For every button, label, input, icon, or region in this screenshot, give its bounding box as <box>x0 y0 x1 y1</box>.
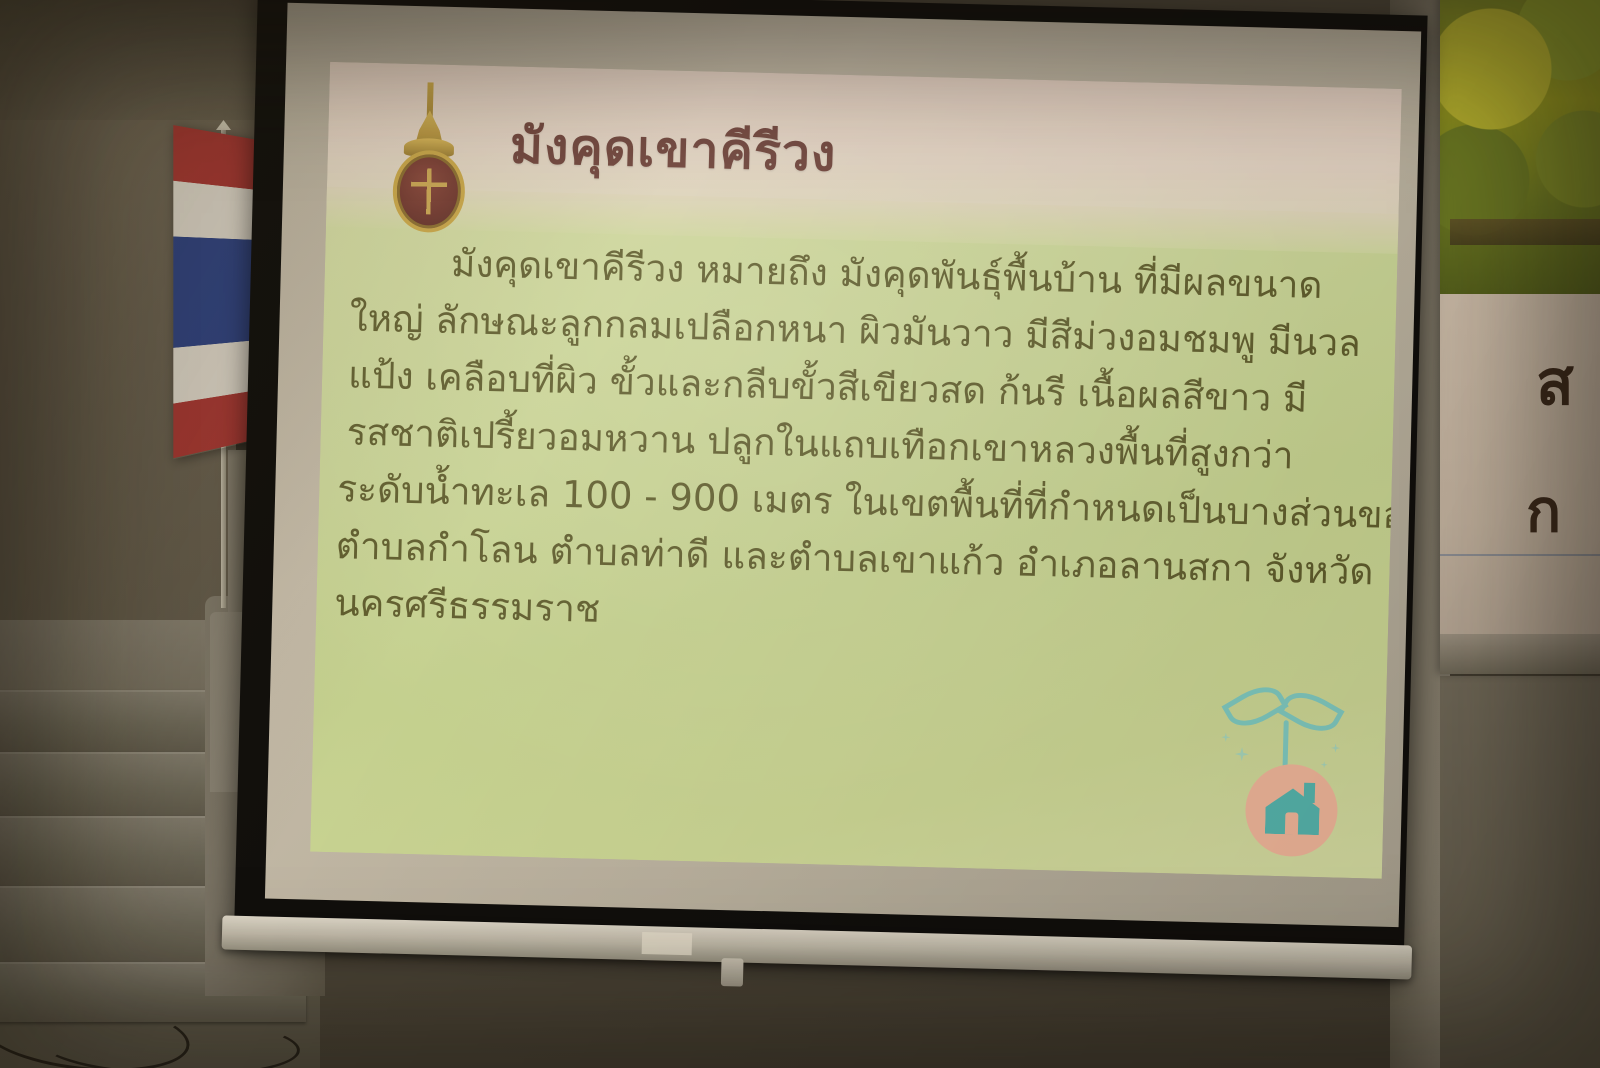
projector-screen-frame: มังคุดเขาคีรีวง มังคุดเขาคีรีวง หมายถึง … <box>234 0 1428 975</box>
poster-text-bottom: ก <box>1526 464 1561 557</box>
room-photo-scene: ส ก มังคุดเขาคีรีวง มังคุดเขาคีรีวง หมาย… <box>0 0 1600 1068</box>
thai-flag-icon <box>173 125 258 459</box>
house-and-leaf-logo-icon <box>1216 671 1361 864</box>
right-wall-lower <box>1440 676 1600 1068</box>
presentation-slide: มังคุดเขาคีรีวง มังคุดเขาคีรีวง หมายถึง … <box>310 62 1402 879</box>
slide-body-text: มังคุดเขาคีรีวง หมายถึง มังคุดพันธุ์พื้น… <box>334 232 1384 657</box>
forest-photo <box>1440 0 1600 294</box>
leaf-icon <box>1221 677 1288 736</box>
poster-base <box>1440 634 1600 674</box>
stair-step <box>0 690 216 752</box>
poster-text-top: ส <box>1536 334 1574 432</box>
slide-header-band <box>326 62 1401 232</box>
stair-step <box>0 752 230 816</box>
projector-screen-surface: มังคุดเขาคีรีวง มังคุดเขาคีรีวง หมายถึง … <box>265 3 1421 927</box>
poster-divider <box>1440 554 1600 556</box>
poster-text-panel <box>1440 294 1600 674</box>
wall-poster: ส ก <box>1440 0 1600 674</box>
thai-government-emblem-icon <box>380 81 480 231</box>
screen-pull-handle[interactable] <box>721 958 744 987</box>
stair-landing <box>0 620 232 692</box>
slide-title: มังคุดเขาคีรีวง <box>509 106 837 193</box>
